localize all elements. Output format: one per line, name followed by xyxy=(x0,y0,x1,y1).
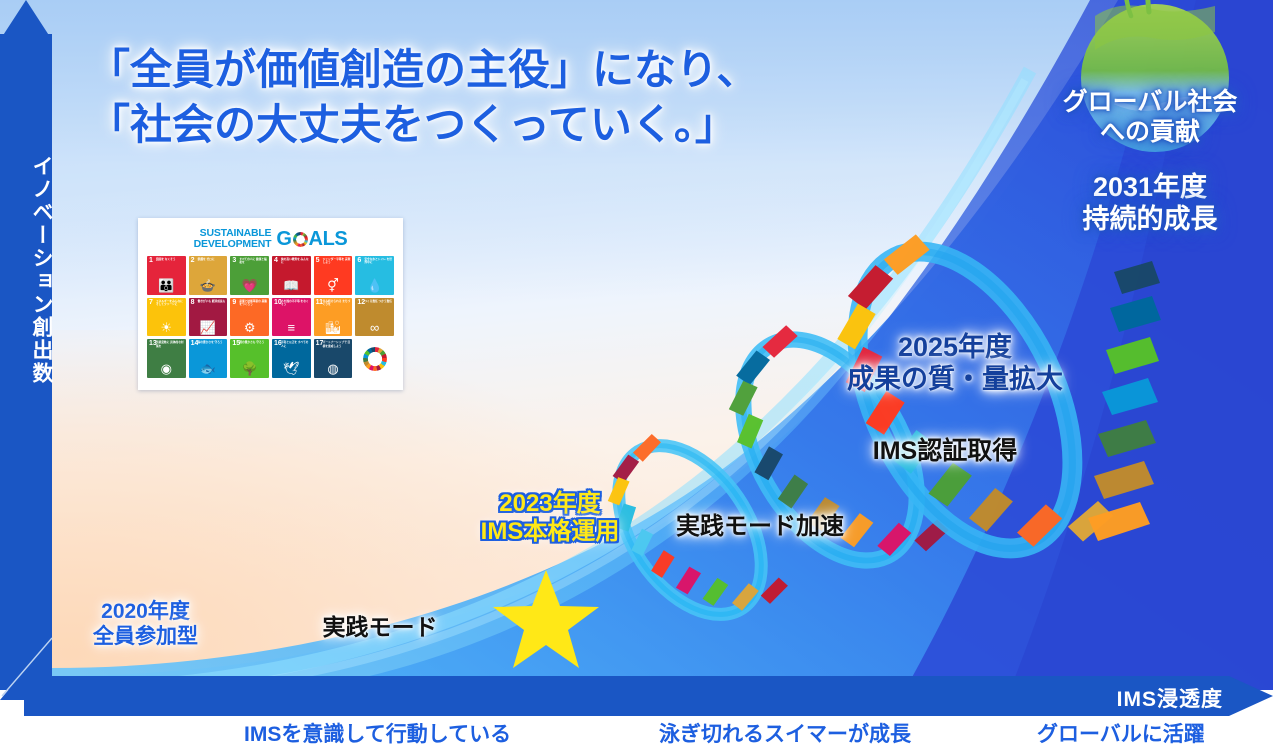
sdg-goal-tile-8: 8働きがいも 経済成長も📈 xyxy=(189,298,228,337)
sdg-goal-tile-15: 15陸の豊かさも 守ろう🌳 xyxy=(230,339,269,378)
sdg-goal-glyph-icon: 🏙 xyxy=(314,321,353,334)
milestone-global: グローバル社会 への貢献 xyxy=(1035,88,1265,147)
sdg-goal-title: 気候変動に 具体的な対策を xyxy=(156,341,185,348)
x-axis-arrowhead-icon xyxy=(1229,676,1273,716)
sdg-poster: SUSTAINABLE DEVELOPMENT G ALS 1貧困を なくそう👪… xyxy=(138,218,403,390)
sdg-goal-title: ジェンダー平等を 実現しよう xyxy=(323,258,352,265)
x-tick-label-2: 泳ぎ切れるスイマーが成長 xyxy=(659,718,911,748)
milestone-2020: 2020年度 全員参加型 xyxy=(58,600,233,650)
sdg-goal-glyph-icon: 💗 xyxy=(230,279,269,292)
sdg-goal-glyph-icon: ⚙ xyxy=(230,321,269,334)
sdg-goal-tile-9: 9産業と技術革新の 基盤をつくろう⚙ xyxy=(230,298,269,337)
sdg-heading-goals: G ALS xyxy=(276,228,347,251)
sdg-goal-tile-11: 11住み続けられる まちづくりを🏙 xyxy=(314,298,353,337)
sdg-goal-tile-5: 5ジェンダー平等を 実現しよう⚥ xyxy=(314,256,353,295)
sdg-goal-number: 8 xyxy=(191,299,195,306)
sdg-goal-glyph-icon: 🍲 xyxy=(189,279,228,292)
sdg-goal-tile-3: 3すべての人に 健康と福祉を💗 xyxy=(230,256,269,295)
infographic-root: イノベーション創出数 IMS浸透度 「全員が価値創造の主役」になり、 「社会の大… xyxy=(0,0,1273,751)
sdg-goal-tile-6: 6安全な水とトイレ を世界中に💧 xyxy=(355,256,394,295)
sdg-goal-grid: 1貧困を なくそう👪2飢餓を ゼロに🍲3すべての人に 健康と福祉を💗4質の高い教… xyxy=(138,252,403,386)
sdg-goal-title: 産業と技術革新の 基盤をつくろう xyxy=(239,300,268,307)
milestone-star-icon xyxy=(493,568,599,670)
sdg-goal-number: 7 xyxy=(149,299,153,306)
sdg-goal-glyph-icon: ≡ xyxy=(272,321,311,334)
milestone-practice-accel: 実践モード加速 xyxy=(655,513,865,541)
sdg-poster-heading: SUSTAINABLE DEVELOPMENT G ALS xyxy=(138,218,403,252)
sdg-goal-number: 4 xyxy=(274,257,278,264)
milestone-ims-cert: IMS認証取得 xyxy=(845,437,1045,467)
sdg-goals-g: G xyxy=(276,228,291,251)
sdg-goal-tile-7: 7エネルギーをみんなに そしてクリーンに☀ xyxy=(147,298,186,337)
sdg-goal-title: 陸の豊かさも 守ろう xyxy=(239,341,268,344)
milestone-2023: 2023年度 IMS本格運用 xyxy=(440,490,660,547)
sdg-goal-glyph-icon: 📈 xyxy=(189,321,228,334)
sdg-goal-title: 貧困を なくそう xyxy=(156,258,185,261)
sdg-goal-glyph-icon: 💧 xyxy=(355,279,394,292)
sdg-goal-title: エネルギーをみんなに そしてクリーンに xyxy=(156,300,185,307)
page-title: 「全員が価値創造の主役」になり、 「社会の大丈夫をつくっていく。」 xyxy=(88,42,758,153)
sdg-goal-title: パートナーシップで 目標を達成しよう xyxy=(323,341,352,348)
sdg-goal-number: 6 xyxy=(357,257,361,264)
x-axis-label: IMS浸透度 xyxy=(1117,683,1223,713)
sdg-goal-glyph-icon: 📖 xyxy=(272,279,311,292)
sdg-goal-number: 3 xyxy=(232,257,236,264)
y-axis-label: イノベーション創出数 xyxy=(0,70,52,470)
sdg-goal-glyph-icon: ∞ xyxy=(355,321,394,334)
x-axis-shaft xyxy=(24,676,1229,716)
milestone-practice-mode: 実践モード xyxy=(300,614,460,641)
sdg-goal-title: 安全な水とトイレ を世界中に xyxy=(364,258,393,265)
sdg-goal-title: 平和と公正を すべての人に xyxy=(281,341,310,348)
sdg-goal-title: すべての人に 健康と福祉を xyxy=(239,258,268,265)
sdg-goal-glyph-icon: ☀ xyxy=(147,321,186,334)
sdg-goal-tile-12: 12つくる責任 つかう責任∞ xyxy=(355,298,394,337)
sdg-goal-title: 海の豊かさを 守ろう xyxy=(198,341,227,344)
sdg-goal-title: 住み続けられる まちづくりを xyxy=(323,300,352,307)
x-tick-label-3: グローバルに活躍 xyxy=(1037,718,1205,748)
sdg-goal-title: 質の高い教育を みんなに xyxy=(281,258,310,265)
sdg-goal-tile-1: 1貧困を なくそう👪 xyxy=(147,256,186,295)
sdg-wheel-icon xyxy=(363,347,387,371)
x-axis: IMS浸透度 xyxy=(24,676,1273,716)
sdg-goal-glyph-icon: 👪 xyxy=(147,279,186,292)
sdg-color-wheel-icon xyxy=(293,232,308,247)
sdg-goal-tile-16: 16平和と公正を すべての人に🕊 xyxy=(272,339,311,378)
y-axis: イノベーション創出数 xyxy=(0,0,52,690)
sdg-goal-glyph-icon: 🕊 xyxy=(272,362,311,375)
milestone-2025: 2025年度 成果の質・量拡大 xyxy=(825,332,1085,396)
sdg-goal-tile-17: 17パートナーシップで 目標を達成しよう◍ xyxy=(314,339,353,378)
sdg-goal-glyph-icon: 🌳 xyxy=(230,362,269,375)
sdg-goal-title: 働きがいも 経済成長も xyxy=(198,300,227,303)
sdg-goal-number: 9 xyxy=(232,299,236,306)
sdg-goal-glyph-icon: ⚥ xyxy=(314,279,353,292)
sdg-goal-tile-4: 4質の高い教育を みんなに📖 xyxy=(272,256,311,295)
sdg-goal-tile-10: 10人や国の不平等 をなくそう≡ xyxy=(272,298,311,337)
sdg-goal-glyph-icon: ◍ xyxy=(314,362,353,375)
sdg-goal-number: 2 xyxy=(191,257,195,264)
sdg-goal-glyph-icon: 🐟 xyxy=(189,362,228,375)
sdg-goal-number: 1 xyxy=(149,257,153,264)
sdg-goal-glyph-icon: ◉ xyxy=(147,362,186,375)
sdg-goal-tile-14: 14海の豊かさを 守ろう🐟 xyxy=(189,339,228,378)
sdg-wheel-tile xyxy=(355,339,394,378)
sdg-goal-title: 飢餓を ゼロに xyxy=(198,258,227,261)
sdg-heading-text: SUSTAINABLE DEVELOPMENT xyxy=(194,228,272,249)
sdg-goal-number: 5 xyxy=(316,257,320,264)
sdg-goal-title: 人や国の不平等 をなくそう xyxy=(281,300,310,307)
sdg-heading-line2: DEVELOPMENT xyxy=(194,239,272,250)
x-tick-label-1: IMSを意識して行動している xyxy=(244,718,511,748)
sdg-goal-tile-13: 13気候変動に 具体的な対策を◉ xyxy=(147,339,186,378)
sdg-goal-tile-2: 2飢餓を ゼロに🍲 xyxy=(189,256,228,295)
sdg-goals-als: ALS xyxy=(309,228,348,251)
sdg-goal-title: つくる責任 つかう責任 xyxy=(364,300,393,303)
milestone-2031: 2031年度 持続的成長 xyxy=(1035,172,1265,236)
